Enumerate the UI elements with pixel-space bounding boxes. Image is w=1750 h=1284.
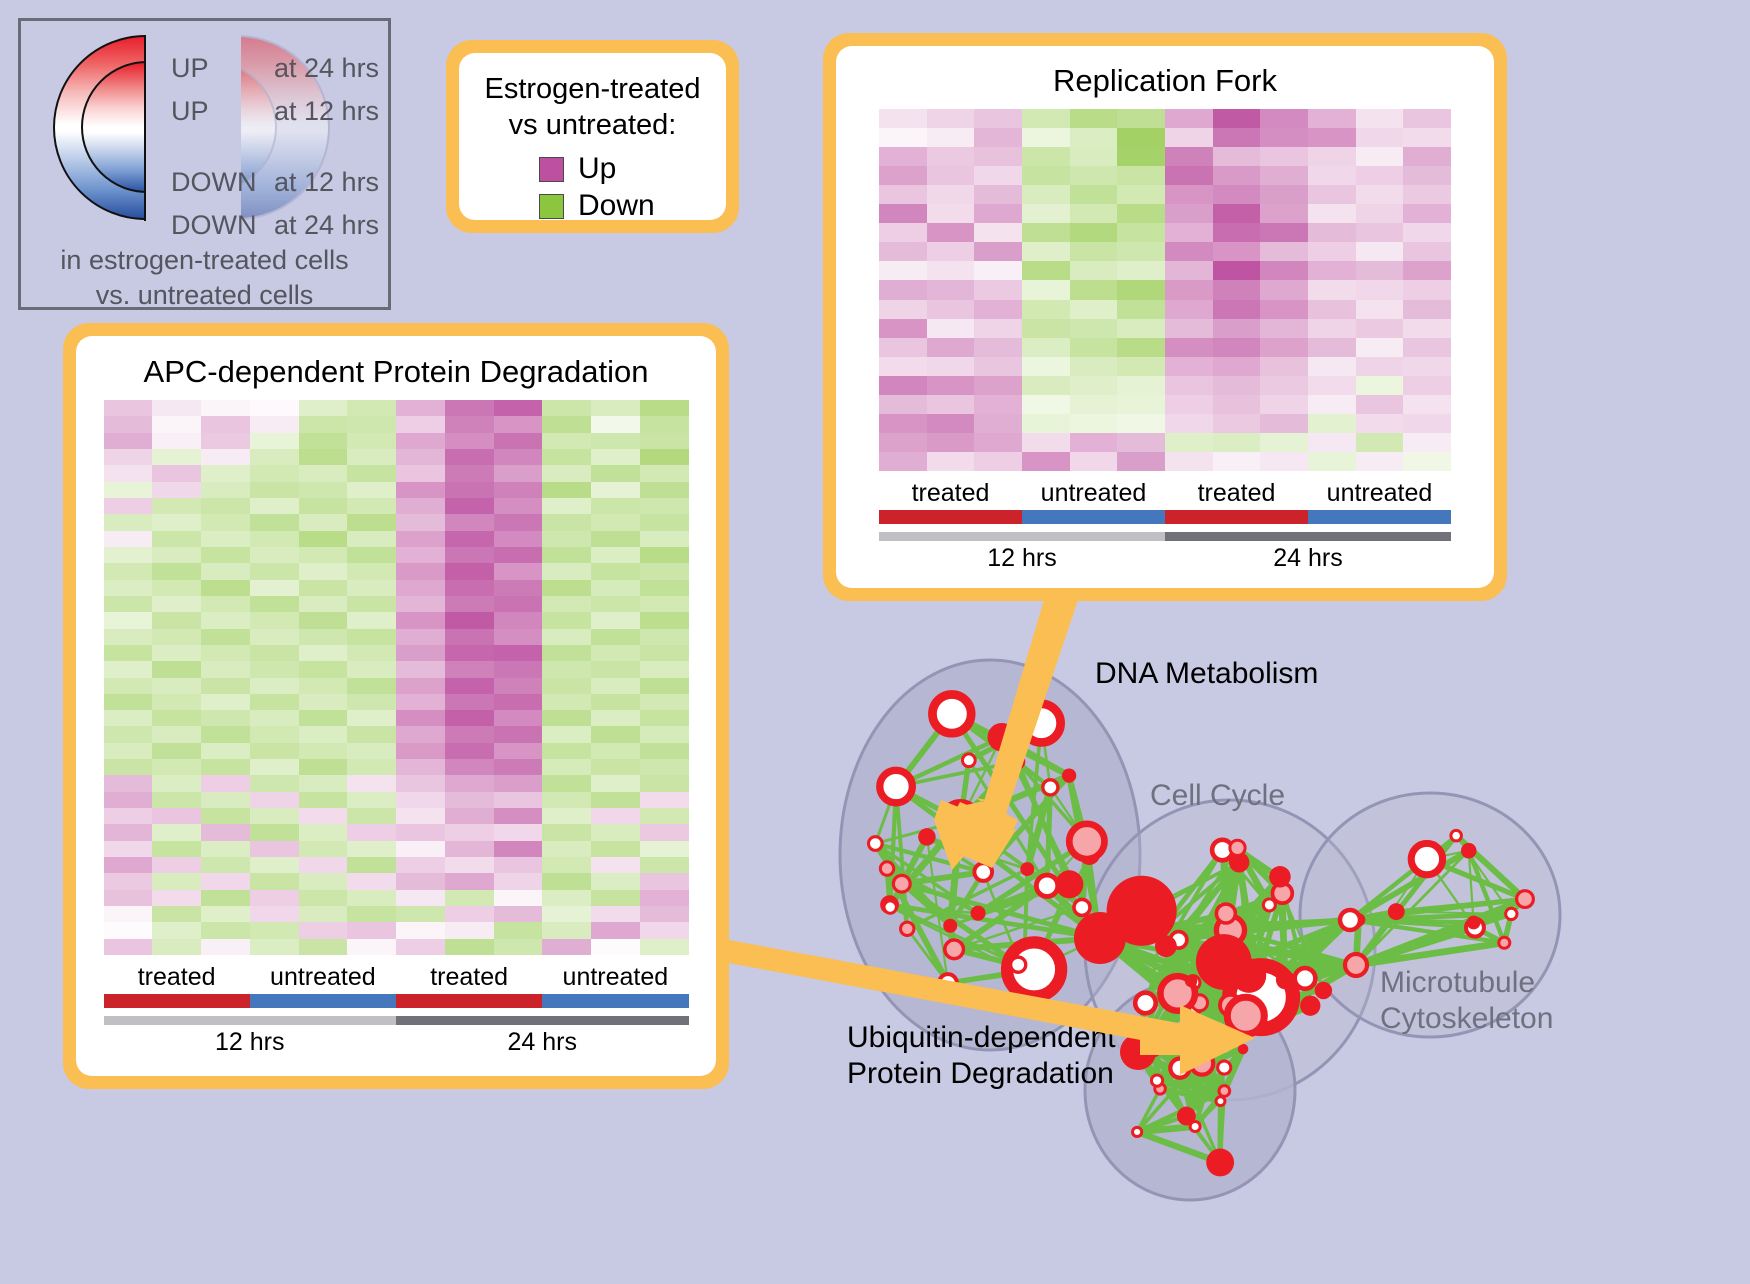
heatmap-cell	[542, 531, 591, 547]
heatmap-cell	[1308, 185, 1356, 204]
heatmap-cell	[201, 710, 250, 726]
heatmap-cell	[974, 166, 1022, 185]
heatmap-cell	[591, 563, 640, 579]
heatmap-cell	[104, 563, 153, 579]
heatmap-cell	[104, 873, 153, 889]
network-node[interactable]	[1451, 830, 1462, 841]
heatmap-cell	[347, 531, 396, 547]
heatmap-cell	[152, 824, 201, 840]
heatmap-cell	[1403, 109, 1451, 128]
heatmap-cell	[347, 547, 396, 563]
heatmap-cell	[104, 743, 153, 759]
condition-bar-untreated	[250, 994, 396, 1008]
network-node[interactable]	[880, 862, 893, 875]
heatmap-cell	[396, 743, 445, 759]
network-node[interactable]	[1218, 1061, 1231, 1074]
heatmap-cell	[201, 759, 250, 775]
network-node[interactable]	[1074, 912, 1126, 964]
heatmap-cell	[1117, 280, 1165, 299]
condition-bar-untreated	[1308, 510, 1451, 524]
heatmap-cell	[494, 416, 543, 432]
heatmap-cell	[299, 661, 348, 677]
network-node[interactable]	[1461, 843, 1477, 859]
heatmap-cell	[347, 792, 396, 808]
heatmap-cell	[494, 498, 543, 514]
heatmap-cell	[104, 465, 153, 481]
network-node[interactable]	[1036, 875, 1057, 896]
heatmap-cell	[640, 710, 689, 726]
heatmap-cell	[201, 416, 250, 432]
heatmap-cell	[1308, 452, 1356, 471]
network-node[interactable]	[1020, 862, 1034, 876]
heatmap-cell	[1117, 166, 1165, 185]
heatmap-cell	[299, 400, 348, 416]
heatmap-cell	[494, 400, 543, 416]
network-node[interactable]	[1010, 755, 1023, 768]
heatmap-cell	[104, 482, 153, 498]
network-node[interactable]	[1155, 935, 1177, 957]
heatmap-cell	[299, 808, 348, 824]
heatmap-cell	[1260, 204, 1308, 223]
heatmap-cell	[104, 939, 153, 955]
heatmap-cell	[347, 808, 396, 824]
legend-key: DOWN	[171, 161, 274, 204]
heatmap-cell	[879, 414, 927, 433]
network-node[interactable]	[1069, 824, 1104, 859]
heatmap-cell	[104, 678, 153, 694]
heatmap-cell	[201, 661, 250, 677]
heatmap-cell	[1070, 280, 1118, 299]
heatmap-cell	[201, 514, 250, 530]
heatmap-cell	[396, 416, 445, 432]
heatmap-cell	[1165, 185, 1213, 204]
network-node[interactable]	[1411, 843, 1442, 874]
heatmap-cell	[974, 357, 1022, 376]
heatmap-cell	[927, 242, 975, 261]
heatmap-cell	[879, 128, 927, 147]
heatmap-cell	[494, 580, 543, 596]
heatmap-cell	[347, 661, 396, 677]
heatmap-cell	[299, 759, 348, 775]
heatmap-cell	[1165, 204, 1213, 223]
network-node[interactable]	[1216, 904, 1235, 923]
heatmap-cell	[1356, 261, 1404, 280]
heatmap-cell	[396, 612, 445, 628]
heatmap-cell	[494, 873, 543, 889]
heatmap-cell	[104, 498, 153, 514]
heatmap-cell	[1213, 395, 1261, 414]
heatmap-cell	[640, 890, 689, 906]
network-node[interactable]	[1074, 899, 1090, 915]
heatmap-cell	[250, 514, 299, 530]
heatmap-cell	[1260, 414, 1308, 433]
heatmap-cell	[104, 726, 153, 742]
heatmap-cell	[542, 465, 591, 481]
heatmap-cell	[152, 775, 201, 791]
heatmap-cell	[250, 449, 299, 465]
heatmap-cell	[396, 890, 445, 906]
heatmap-cell	[1403, 376, 1451, 395]
heatmap-cell	[494, 939, 543, 955]
network-node[interactable]	[1043, 780, 1058, 795]
heatmap-cell	[201, 482, 250, 498]
heatmap-cell	[640, 514, 689, 530]
heatmap-cell	[542, 678, 591, 694]
condition-label: treated	[396, 963, 542, 992]
heatmap-cell	[201, 808, 250, 824]
heatmap-cell	[1070, 109, 1118, 128]
legend-value: at 12 hrs	[274, 90, 379, 133]
heatmap-cell	[494, 808, 543, 824]
heatmap-cell	[974, 185, 1022, 204]
heatmap-cell	[1022, 319, 1070, 338]
network-node[interactable]	[1055, 870, 1083, 898]
heatmap-cell	[879, 185, 927, 204]
network-node[interactable]	[893, 875, 910, 892]
network-node[interactable]	[1206, 959, 1226, 979]
heatmap-cell	[201, 400, 250, 416]
network-node[interactable]	[1506, 908, 1517, 919]
heatmap-cell	[104, 906, 153, 922]
heatmap-cell	[299, 449, 348, 465]
heatmap-cell	[640, 922, 689, 938]
heatmap-cell	[1165, 452, 1213, 471]
heatmap-cell	[591, 857, 640, 873]
heatmap-cell	[445, 743, 494, 759]
heatmap-cell	[104, 661, 153, 677]
heatmap-cell	[396, 465, 445, 481]
heatmap-cell	[396, 873, 445, 889]
heatmap-cell	[1308, 338, 1356, 357]
heatmap-cell	[201, 563, 250, 579]
network-node[interactable]	[1170, 1059, 1189, 1078]
heatmap-cell	[591, 726, 640, 742]
network-node[interactable]	[1230, 840, 1245, 855]
heatmap-cell	[1165, 357, 1213, 376]
heatmap-cell	[494, 922, 543, 938]
heatmap-cell	[879, 395, 927, 414]
heatmap-cell	[542, 890, 591, 906]
heatmap-cell	[879, 223, 927, 242]
heatmap-cell	[299, 596, 348, 612]
heatmap-cell	[396, 645, 445, 661]
network-node[interactable]	[1388, 903, 1405, 920]
heatmap-cell	[1117, 452, 1165, 471]
legend-value: at 12 hrs	[274, 161, 379, 204]
network-node[interactable]	[1022, 704, 1061, 743]
heatmap-cell	[445, 890, 494, 906]
network-node[interactable]	[939, 974, 957, 992]
replication-fork-panel: Replication Fork treated untreated treat…	[823, 33, 1507, 601]
heatmap-cell	[152, 580, 201, 596]
heatmap-cell	[445, 629, 494, 645]
heatmap-cell	[152, 678, 201, 694]
network-node[interactable]	[1517, 891, 1534, 908]
heatmap-cell	[1260, 300, 1308, 319]
heatmap-cell	[299, 531, 348, 547]
colorwheel-legend: UP at 24 hrs UP at 12 hrs DOWN at 12 hrs…	[18, 18, 391, 310]
network-node[interactable]	[971, 906, 986, 921]
network-node[interactable]	[988, 723, 1017, 752]
heatmap-cell	[1070, 147, 1118, 166]
heatmap-cell	[1308, 261, 1356, 280]
heatmap-cell	[250, 629, 299, 645]
network-node[interactable]	[1062, 768, 1076, 782]
heatmap-cell	[104, 433, 153, 449]
network-node[interactable]	[901, 922, 914, 935]
panel-title: Replication Fork	[836, 46, 1494, 99]
heatmap-cell	[250, 857, 299, 873]
heatmap-cell	[250, 596, 299, 612]
heatmap-cell	[494, 563, 543, 579]
network-node[interactable]	[1295, 968, 1316, 989]
heatmap-cell	[152, 792, 201, 808]
heatmap-cell	[1403, 128, 1451, 147]
heatmap-cell	[104, 449, 153, 465]
heatmap-cell	[1356, 128, 1404, 147]
heatmap-cell	[152, 531, 201, 547]
legend-row-down-24: DOWN at 24 hrs	[171, 204, 401, 247]
network-node[interactable]	[1345, 954, 1367, 976]
heatmap-cell	[347, 433, 396, 449]
heatmap-cell	[1070, 338, 1118, 357]
heatmap-cell	[445, 400, 494, 416]
heatmap-cell	[1022, 357, 1070, 376]
heatmap-cell	[201, 743, 250, 759]
heatmap-cell	[201, 857, 250, 873]
network-node[interactable]	[1227, 997, 1264, 1034]
down-swatch-icon	[539, 194, 564, 219]
heatmap-cell	[152, 547, 201, 563]
heatmap-cell	[1165, 433, 1213, 452]
network-node[interactable]	[1151, 1075, 1162, 1086]
network-node[interactable]	[1178, 1025, 1193, 1040]
heatmap-cell	[445, 841, 494, 857]
heatmap-cell	[542, 808, 591, 824]
heatmap-cell	[640, 596, 689, 612]
network-node[interactable]	[974, 863, 992, 881]
heatmap-cell	[640, 939, 689, 955]
heatmap-cell	[445, 465, 494, 481]
timepoint-color-bar	[104, 1016, 689, 1025]
heatmap-cell	[396, 547, 445, 563]
condition-label: treated	[879, 479, 1022, 508]
heatmap-cell	[879, 338, 927, 357]
heatmap-cell	[1022, 433, 1070, 452]
heatmap-cell	[201, 775, 250, 791]
heatmap-cell	[104, 792, 153, 808]
heatmap-cell	[1308, 147, 1356, 166]
heatmap-cell	[250, 710, 299, 726]
heatmap-cell	[640, 498, 689, 514]
heatmap-cell	[347, 612, 396, 628]
network-node[interactable]	[1276, 970, 1295, 989]
heatmap-cell	[347, 775, 396, 791]
heatmap-cell	[201, 580, 250, 596]
heatmap-cell	[1403, 185, 1451, 204]
heatmap-cell	[927, 414, 975, 433]
heatmap-cell	[152, 514, 201, 530]
network-node[interactable]	[1120, 1034, 1156, 1070]
heatmap-cell	[494, 514, 543, 530]
heatmap-cell	[591, 465, 640, 481]
heatmap-cell	[1070, 414, 1118, 433]
network-node[interactable]	[1219, 1086, 1230, 1097]
heatmap-cell	[879, 109, 927, 128]
heatmap-cell	[299, 678, 348, 694]
heatmap-cell	[640, 400, 689, 416]
heatmap-cell	[445, 645, 494, 661]
network-node[interactable]	[943, 803, 978, 838]
condition-label: untreated	[250, 963, 396, 992]
heatmap-cell	[347, 645, 396, 661]
heatmap-cell	[591, 841, 640, 857]
heatmap-cell	[1403, 147, 1451, 166]
heatmap-cell	[974, 414, 1022, 433]
network-node[interactable]	[884, 901, 896, 913]
heatmap-cell	[1260, 128, 1308, 147]
heatmap-cell	[104, 890, 153, 906]
heatmap-cell	[299, 824, 348, 840]
network-node[interactable]	[943, 919, 957, 933]
heatmap-cell	[201, 433, 250, 449]
heatmap-cell	[347, 678, 396, 694]
heatmap-cell	[1403, 414, 1451, 433]
heatmap-cell	[152, 629, 201, 645]
heatmap-cell	[542, 775, 591, 791]
heatmap-cell	[1260, 223, 1308, 242]
heatmap-cell	[104, 400, 153, 416]
heatmap-cell	[927, 261, 975, 280]
condition-bar-treated	[396, 994, 542, 1008]
heatmap-cell	[974, 147, 1022, 166]
network-node[interactable]	[1300, 996, 1320, 1016]
heatmap-cell	[104, 629, 153, 645]
heatmap-cell	[1213, 414, 1261, 433]
condition-bar-untreated	[542, 994, 688, 1008]
network-node[interactable]	[869, 837, 883, 851]
network-node[interactable]	[1340, 910, 1360, 930]
network-node[interactable]	[1211, 1026, 1231, 1046]
network-node[interactable]	[918, 828, 936, 846]
network-node[interactable]	[1232, 958, 1266, 992]
heatmap-cell	[104, 841, 153, 857]
network-node[interactable]	[1177, 1107, 1196, 1126]
heatmap-cell	[927, 109, 975, 128]
network-node[interactable]	[1315, 982, 1332, 999]
network-node[interactable]	[880, 770, 913, 803]
network-node[interactable]	[1216, 1097, 1225, 1106]
heatmap-cell	[1403, 319, 1451, 338]
heatmap-cell	[152, 857, 201, 873]
heatmap-cell	[494, 775, 543, 791]
heatmap-cell	[396, 514, 445, 530]
replication-fork-heatmap	[879, 109, 1451, 471]
colorwheel-axis	[144, 35, 146, 221]
heatmap-cell	[640, 661, 689, 677]
heatmap-cell	[1070, 261, 1118, 280]
panel-title: APC-dependent Protein Degradation	[76, 336, 716, 390]
heatmap-cell	[591, 449, 640, 465]
heatmap-cell	[152, 759, 201, 775]
heatmap-cell	[1213, 300, 1261, 319]
heatmap-cell	[542, 824, 591, 840]
cluster-label-cell-cycle: Cell Cycle	[1150, 778, 1285, 814]
network-node[interactable]	[1191, 1052, 1213, 1074]
heatmap-cell	[542, 498, 591, 514]
heatmap-cell	[299, 890, 348, 906]
network-node[interactable]	[1238, 1044, 1249, 1055]
heatmap-cell	[1117, 395, 1165, 414]
heatmap-cell	[1403, 433, 1451, 452]
heatmap-cell	[299, 710, 348, 726]
heatmap-cell	[1165, 166, 1213, 185]
legend-title-line-1: Estrogen-treated	[469, 71, 716, 107]
cluster-label-dna-metabolism: DNA Metabolism	[1095, 656, 1318, 692]
legend-key: DOWN	[171, 204, 274, 247]
cluster-label-microtubule-cytoskeleton: Microtubule Cytoskeleton	[1380, 965, 1553, 1037]
heatmap-cell	[299, 775, 348, 791]
network-node[interactable]	[1185, 975, 1197, 987]
heatmap-cell	[250, 906, 299, 922]
heatmap-cell	[1022, 452, 1070, 471]
heatmap-cell	[1260, 357, 1308, 376]
heatmap-cell	[445, 612, 494, 628]
heatmap-cell	[347, 563, 396, 579]
heatmap-cell	[879, 261, 927, 280]
network-node[interactable]	[1206, 1149, 1234, 1177]
network-node[interactable]	[1135, 993, 1156, 1014]
network-node[interactable]	[1011, 957, 1026, 972]
heatmap-cell	[542, 694, 591, 710]
heatmap-cell	[1308, 357, 1356, 376]
heatmap-cell	[250, 678, 299, 694]
network-node[interactable]	[962, 754, 975, 767]
heatmap-cell	[104, 824, 153, 840]
heatmap-cell	[591, 759, 640, 775]
condition-label: untreated	[542, 963, 688, 992]
network-node[interactable]	[932, 694, 971, 733]
heatmap-cell	[1403, 338, 1451, 357]
heatmap-cell	[640, 841, 689, 857]
heatmap-cell	[152, 922, 201, 938]
network-node[interactable]	[1467, 916, 1481, 930]
heatmap-cell	[1165, 376, 1213, 395]
heatmap-cell	[591, 743, 640, 759]
network-node[interactable]	[1133, 1127, 1142, 1136]
expression-legend-title: Estrogen-treated vs untreated:	[459, 53, 726, 143]
network-node[interactable]	[945, 940, 964, 959]
heatmap-cell	[1117, 185, 1165, 204]
heatmap-cell	[1022, 338, 1070, 357]
heatmap-cell	[927, 185, 975, 204]
network-node[interactable]	[1499, 937, 1510, 948]
heatmap-cell	[494, 743, 543, 759]
heatmap-cell	[104, 596, 153, 612]
heatmap-cell	[396, 678, 445, 694]
heatmap-cell	[347, 939, 396, 955]
heatmap-cell	[1070, 357, 1118, 376]
heatmap-cell	[542, 759, 591, 775]
heatmap-cell	[152, 563, 201, 579]
heatmap-cell	[299, 841, 348, 857]
heatmap-cell	[974, 319, 1022, 338]
network-node[interactable]	[1269, 866, 1291, 888]
heatmap-cell	[1356, 242, 1404, 261]
heatmap-cell	[152, 743, 201, 759]
heatmap-cell	[879, 452, 927, 471]
heatmap-cell	[1022, 109, 1070, 128]
